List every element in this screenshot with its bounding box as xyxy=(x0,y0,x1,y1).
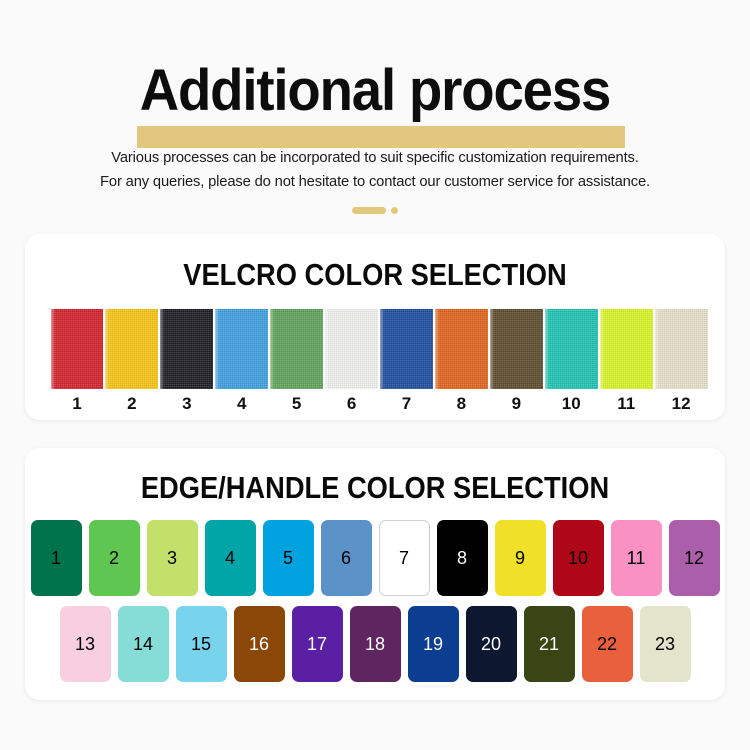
edge-color-chip[interactable]: 20 xyxy=(466,606,517,682)
velcro-swatch-item[interactable] xyxy=(655,309,708,389)
velcro-swatch-item[interactable] xyxy=(490,309,543,389)
subtitle-line-1: Various processes can be incorporated to… xyxy=(11,146,739,170)
velcro-swatch-item[interactable] xyxy=(215,309,268,389)
velcro-section-title: VELCRO COLOR SELECTION xyxy=(67,234,683,293)
edge-color-chip[interactable]: 5 xyxy=(263,520,314,596)
edge-color-chip[interactable]: 2 xyxy=(89,520,140,596)
velcro-color-card: VELCRO COLOR SELECTION 123456789101112 xyxy=(25,234,725,420)
velcro-swatch-strip xyxy=(43,309,708,389)
velcro-swatch-number: 12 xyxy=(655,393,708,415)
page-header: Additional process Various processes can… xyxy=(0,0,750,215)
velcro-swatch-number: 4 xyxy=(215,393,268,415)
velcro-swatch-item[interactable] xyxy=(51,309,104,389)
velcro-swatch-item[interactable] xyxy=(325,309,378,389)
velcro-swatch-item[interactable] xyxy=(435,309,488,389)
decoration-dot-icon xyxy=(391,207,398,214)
header-decoration xyxy=(0,205,750,215)
edge-color-chip[interactable]: 10 xyxy=(553,520,604,596)
edge-color-chip[interactable]: 4 xyxy=(205,520,256,596)
velcro-swatch-number: 8 xyxy=(435,393,488,415)
edge-chip-row-1: 123456789101112 xyxy=(25,520,725,596)
edge-chip-row-2: 1314151617181920212223 xyxy=(25,606,725,682)
velcro-swatch-item[interactable] xyxy=(160,309,213,389)
edge-color-chip[interactable]: 18 xyxy=(350,606,401,682)
velcro-swatch-number: 9 xyxy=(490,393,543,415)
edge-color-chip[interactable]: 1 xyxy=(31,520,82,596)
velcro-swatch-item[interactable] xyxy=(380,309,433,389)
velcro-swatch-number: 1 xyxy=(51,393,104,415)
page-title-wrap: Additional process xyxy=(0,58,750,124)
velcro-color-swatch[interactable] xyxy=(655,309,708,389)
velcro-color-swatch[interactable] xyxy=(270,309,323,389)
velcro-swatch-item[interactable] xyxy=(105,309,158,389)
velcro-swatch-number: 3 xyxy=(160,393,213,415)
velcro-color-swatch[interactable] xyxy=(105,309,158,389)
velcro-swatch-number: 5 xyxy=(270,393,323,415)
velcro-swatch-number: 11 xyxy=(600,393,653,415)
page-title: Additional process xyxy=(23,58,728,124)
edge-color-chip[interactable]: 23 xyxy=(640,606,691,682)
edge-color-chip[interactable]: 16 xyxy=(234,606,285,682)
velcro-color-swatch[interactable] xyxy=(435,309,488,389)
page-subtitle: Various processes can be incorporated to… xyxy=(11,146,739,194)
velcro-color-swatch[interactable] xyxy=(160,309,213,389)
velcro-swatch-item[interactable] xyxy=(270,309,323,389)
edge-color-chip[interactable]: 21 xyxy=(524,606,575,682)
velcro-color-swatch[interactable] xyxy=(490,309,543,389)
edge-color-chip[interactable]: 8 xyxy=(437,520,488,596)
velcro-color-swatch[interactable] xyxy=(51,309,104,389)
velcro-color-swatch[interactable] xyxy=(545,309,598,389)
edge-color-chip[interactable]: 17 xyxy=(292,606,343,682)
edge-color-chip[interactable]: 19 xyxy=(408,606,459,682)
velcro-label-row: 123456789101112 xyxy=(43,393,708,415)
edge-handle-color-card: EDGE/HANDLE COLOR SELECTION 123456789101… xyxy=(25,448,725,700)
velcro-swatch-number: 10 xyxy=(545,393,598,415)
edge-color-chip[interactable]: 22 xyxy=(582,606,633,682)
subtitle-line-2: For any queries, please do not hesitate … xyxy=(11,170,739,194)
velcro-swatch-number: 2 xyxy=(105,393,158,415)
velcro-swatch-number: 7 xyxy=(380,393,433,415)
velcro-color-swatch[interactable] xyxy=(600,309,653,389)
edge-color-chip[interactable]: 13 xyxy=(60,606,111,682)
velcro-color-swatch[interactable] xyxy=(215,309,268,389)
decoration-dash-icon xyxy=(352,207,386,214)
edge-color-chip[interactable]: 3 xyxy=(147,520,198,596)
velcro-swatch-number: 6 xyxy=(325,393,378,415)
edge-color-chip[interactable]: 6 xyxy=(321,520,372,596)
edge-color-chip[interactable]: 12 xyxy=(669,520,720,596)
edge-color-chip[interactable]: 15 xyxy=(176,606,227,682)
velcro-color-swatch[interactable] xyxy=(380,309,433,389)
edge-color-chip[interactable]: 7 xyxy=(379,520,430,596)
edge-color-chip[interactable]: 9 xyxy=(495,520,546,596)
velcro-swatch-item[interactable] xyxy=(545,309,598,389)
title-highlight-bar xyxy=(137,126,625,148)
velcro-swatch-item[interactable] xyxy=(600,309,653,389)
edge-color-chip[interactable]: 14 xyxy=(118,606,169,682)
velcro-color-swatch[interactable] xyxy=(325,309,378,389)
edge-color-chip[interactable]: 11 xyxy=(611,520,662,596)
edge-section-title: EDGE/HANDLE COLOR SELECTION xyxy=(67,448,683,506)
